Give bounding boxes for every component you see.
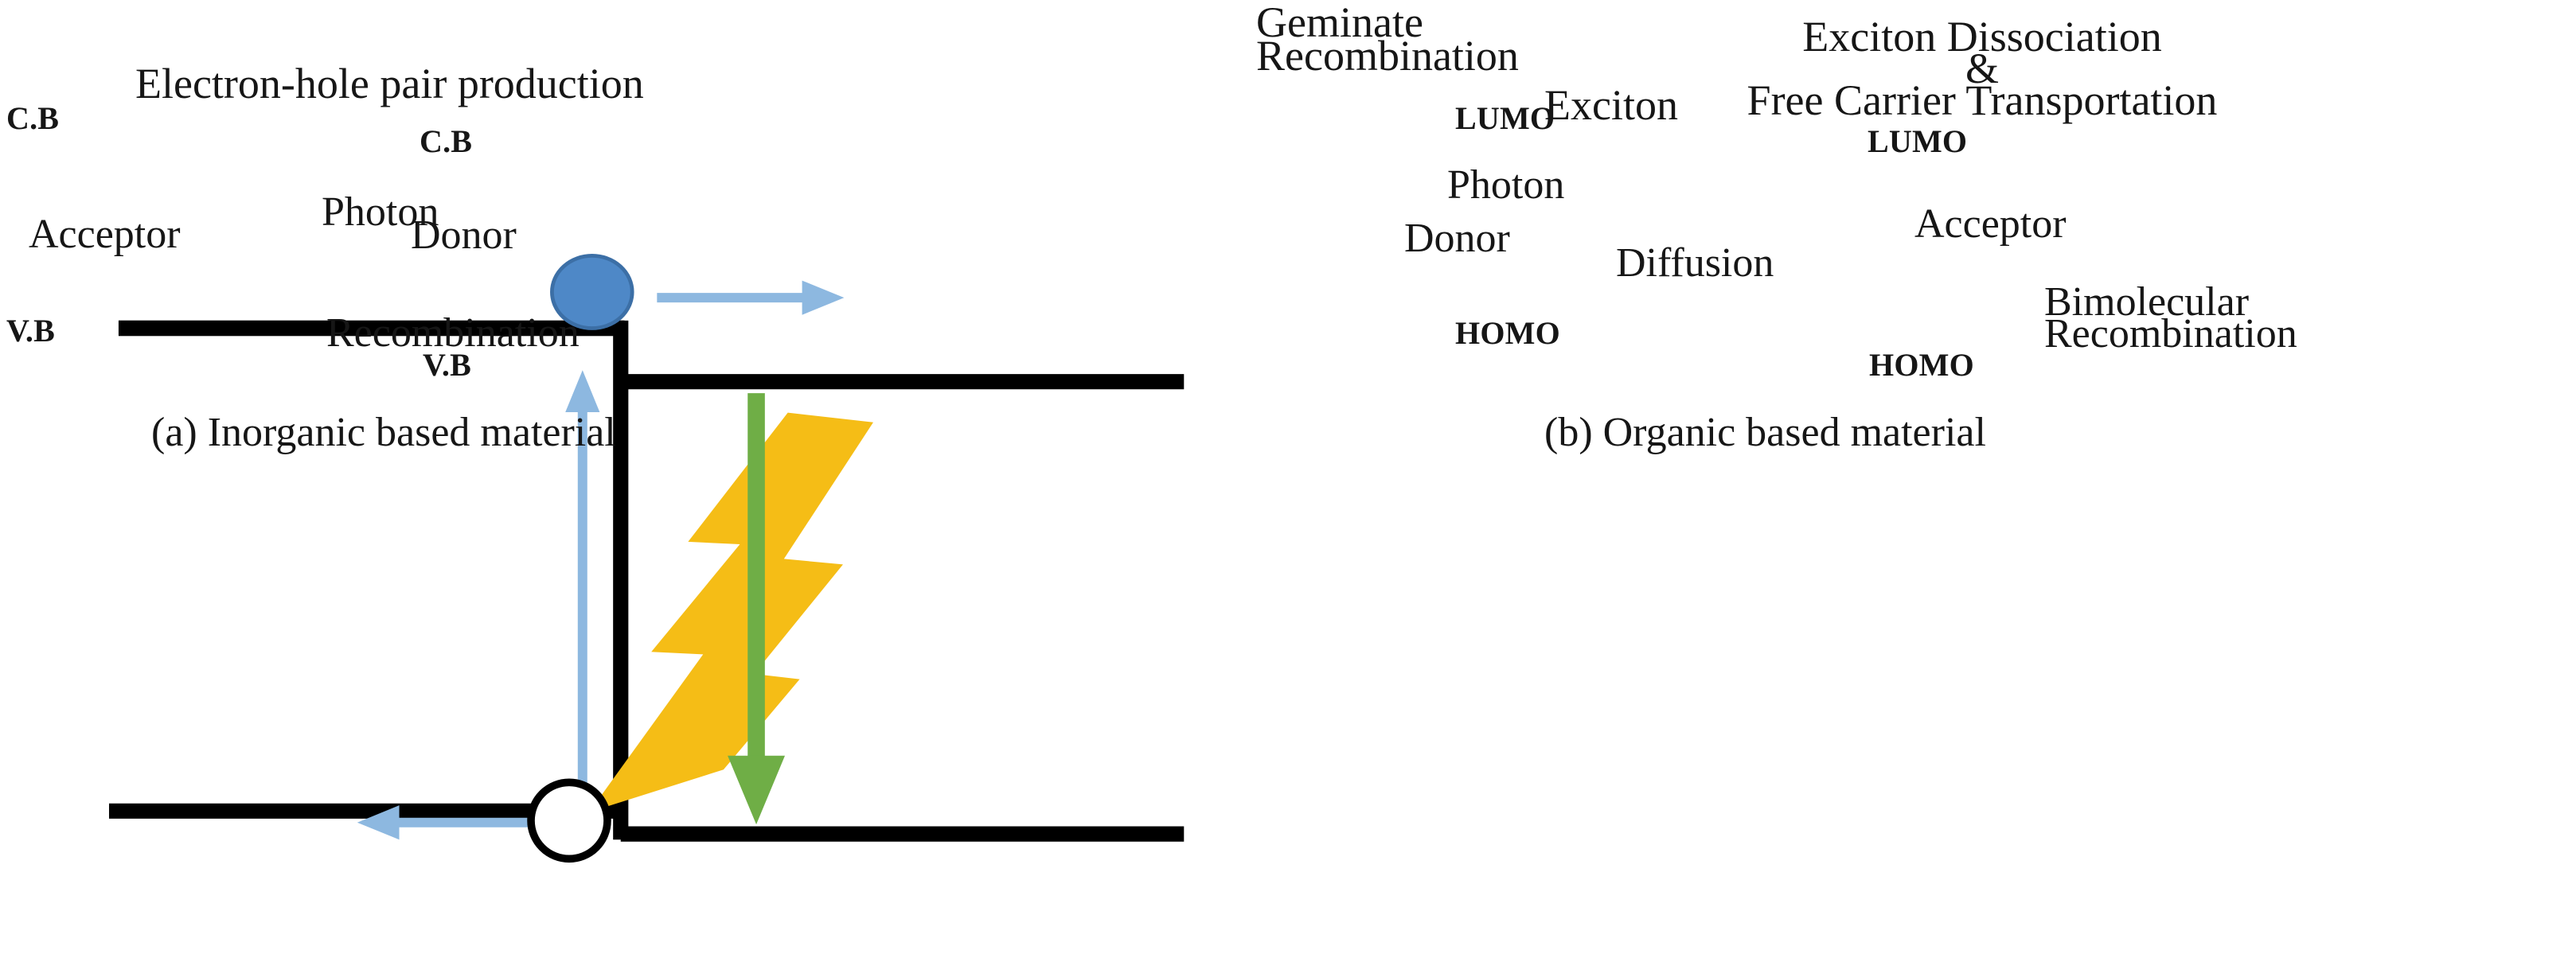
- panel-a-cb-right-label: C.B: [420, 125, 472, 158]
- panel-b-lumo-left-label: LUMO: [1455, 102, 1555, 135]
- panel-a-title: Electron-hole pair production: [135, 61, 644, 107]
- panel-b-lumo-right-label: LUMO: [1868, 125, 1967, 158]
- hole-icon-a: [531, 782, 607, 859]
- panel-a-photon-label: Photon: [322, 190, 439, 234]
- electron-transport-arrow-a: [657, 281, 844, 315]
- panel-b-dissociation-title-line3: Free Carrier Transportation: [1704, 78, 2261, 123]
- panel-b-caption: (b) Organic based material: [1544, 411, 1986, 454]
- panel-b-acceptor-label: Acceptor: [1914, 202, 2067, 246]
- panel-b-bimolecular-label-line2: Recombination: [2044, 312, 2297, 356]
- panel-b-geminate-title-line2: Recombination: [1256, 33, 1519, 79]
- figure-root: Electron-hole pair production C.B V.B C.…: [0, 0, 2576, 958]
- diagram-vector-layer: [0, 0, 2576, 958]
- photon-bolt-icon: [589, 388, 873, 847]
- panel-a-vb-left-label: V.B: [6, 314, 55, 348]
- panel-b-photon-label: Photon: [1447, 163, 1564, 207]
- panel-a-cb-left-label: C.B: [6, 102, 59, 135]
- panel-b-diffusion-label: Diffusion: [1616, 241, 1774, 285]
- panel-b-homo-left-label: HOMO: [1455, 317, 1560, 350]
- panel-b-exciton-label: Exciton: [1544, 83, 1678, 128]
- panel-b-donor-label: Donor: [1404, 216, 1510, 260]
- panel-a-recombination-label: Recombination: [326, 311, 580, 355]
- panel-a-caption: (a) Inorganic based material: [151, 411, 616, 454]
- panel-a-acceptor-label: Acceptor: [29, 212, 181, 256]
- panel-b-homo-right-label: HOMO: [1869, 349, 1974, 382]
